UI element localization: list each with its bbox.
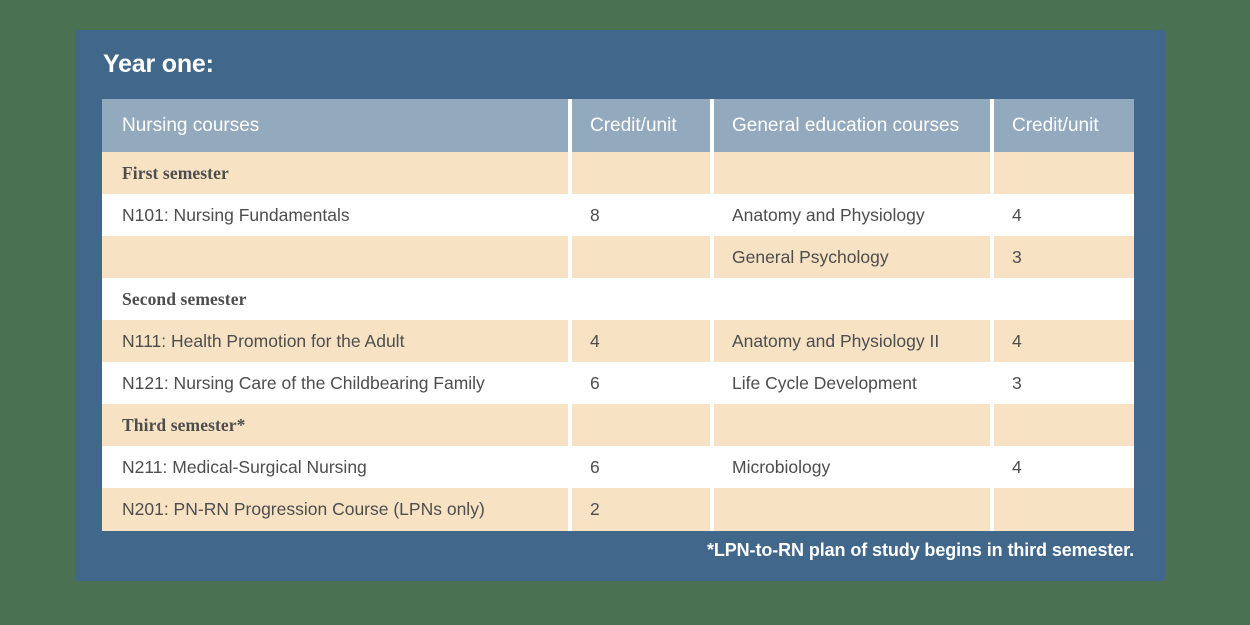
cell-nursing-course: First semester	[102, 152, 568, 194]
cell-credit-unit-gened: 4	[990, 320, 1134, 362]
cell-general-education-course: Life Cycle Development	[710, 362, 990, 404]
cell-credit-unit-gened: 4	[990, 194, 1134, 236]
table-row: N121: Nursing Care of the Childbearing F…	[102, 362, 1134, 404]
semester-heading-row: Second semester	[102, 278, 1134, 320]
cell-credit-unit-nursing	[568, 152, 710, 194]
cell-general-education-course: Anatomy and Physiology II	[710, 320, 990, 362]
cell-nursing-course	[102, 236, 568, 278]
cell-nursing-course: N211: Medical-Surgical Nursing	[102, 446, 568, 488]
table-header: Nursing courses Credit/unit General educ…	[102, 99, 1134, 152]
cell-credit-unit-nursing: 6	[568, 362, 710, 404]
cell-credit-unit-gened: 3	[990, 362, 1134, 404]
cell-nursing-course: Third semester*	[102, 404, 568, 446]
cell-credit-unit-nursing	[568, 236, 710, 278]
cell-credit-unit-gened: 3	[990, 236, 1134, 278]
cell-credit-unit-gened: 4	[990, 446, 1134, 488]
table-body: First semesterN101: Nursing Fundamentals…	[102, 152, 1134, 531]
cell-general-education-course	[710, 488, 990, 531]
table-row: N101: Nursing Fundamentals8Anatomy and P…	[102, 194, 1134, 236]
course-plan-table: Nursing courses Credit/unit General educ…	[102, 99, 1134, 531]
column-header-general-education-courses: General education courses	[710, 99, 990, 152]
footnote-text: *LPN-to-RN plan of study begins in third…	[707, 540, 1134, 561]
table-row: N201: PN-RN Progression Course (LPNs onl…	[102, 488, 1134, 531]
cell-general-education-course	[710, 404, 990, 446]
course-plan-table-wrapper: Nursing courses Credit/unit General educ…	[102, 99, 1134, 531]
semester-heading-row: First semester	[102, 152, 1134, 194]
cell-credit-unit-gened	[990, 488, 1134, 531]
cell-general-education-course	[710, 278, 990, 320]
semester-heading-row: Third semester*	[102, 404, 1134, 446]
cell-credit-unit-nursing	[568, 404, 710, 446]
page-title: Year one:	[103, 50, 214, 79]
cell-credit-unit-gened	[990, 404, 1134, 446]
column-header-credit-unit-gened: Credit/unit	[990, 99, 1134, 152]
table-row: N211: Medical-Surgical Nursing6Microbiol…	[102, 446, 1134, 488]
table-row: N111: Health Promotion for the Adult4Ana…	[102, 320, 1134, 362]
cell-credit-unit-nursing: 4	[568, 320, 710, 362]
cell-nursing-course: N111: Health Promotion for the Adult	[102, 320, 568, 362]
cell-credit-unit-gened	[990, 152, 1134, 194]
cell-general-education-course	[710, 152, 990, 194]
table-row: General Psychology3	[102, 236, 1134, 278]
cell-general-education-course: Microbiology	[710, 446, 990, 488]
cell-nursing-course: N101: Nursing Fundamentals	[102, 194, 568, 236]
cell-credit-unit-gened	[990, 278, 1134, 320]
cell-nursing-course: N121: Nursing Care of the Childbearing F…	[102, 362, 568, 404]
table-header-row: Nursing courses Credit/unit General educ…	[102, 99, 1134, 152]
column-header-nursing-courses: Nursing courses	[102, 99, 568, 152]
cell-nursing-course: Second semester	[102, 278, 568, 320]
cell-credit-unit-nursing: 6	[568, 446, 710, 488]
year-one-panel: Year one: Nursing courses Credit/unit Ge…	[75, 30, 1165, 581]
cell-credit-unit-nursing: 8	[568, 194, 710, 236]
cell-nursing-course: N201: PN-RN Progression Course (LPNs onl…	[102, 488, 568, 531]
column-header-credit-unit-nursing: Credit/unit	[568, 99, 710, 152]
cell-credit-unit-nursing: 2	[568, 488, 710, 531]
cell-general-education-course: General Psychology	[710, 236, 990, 278]
cell-credit-unit-nursing	[568, 278, 710, 320]
cell-general-education-course: Anatomy and Physiology	[710, 194, 990, 236]
